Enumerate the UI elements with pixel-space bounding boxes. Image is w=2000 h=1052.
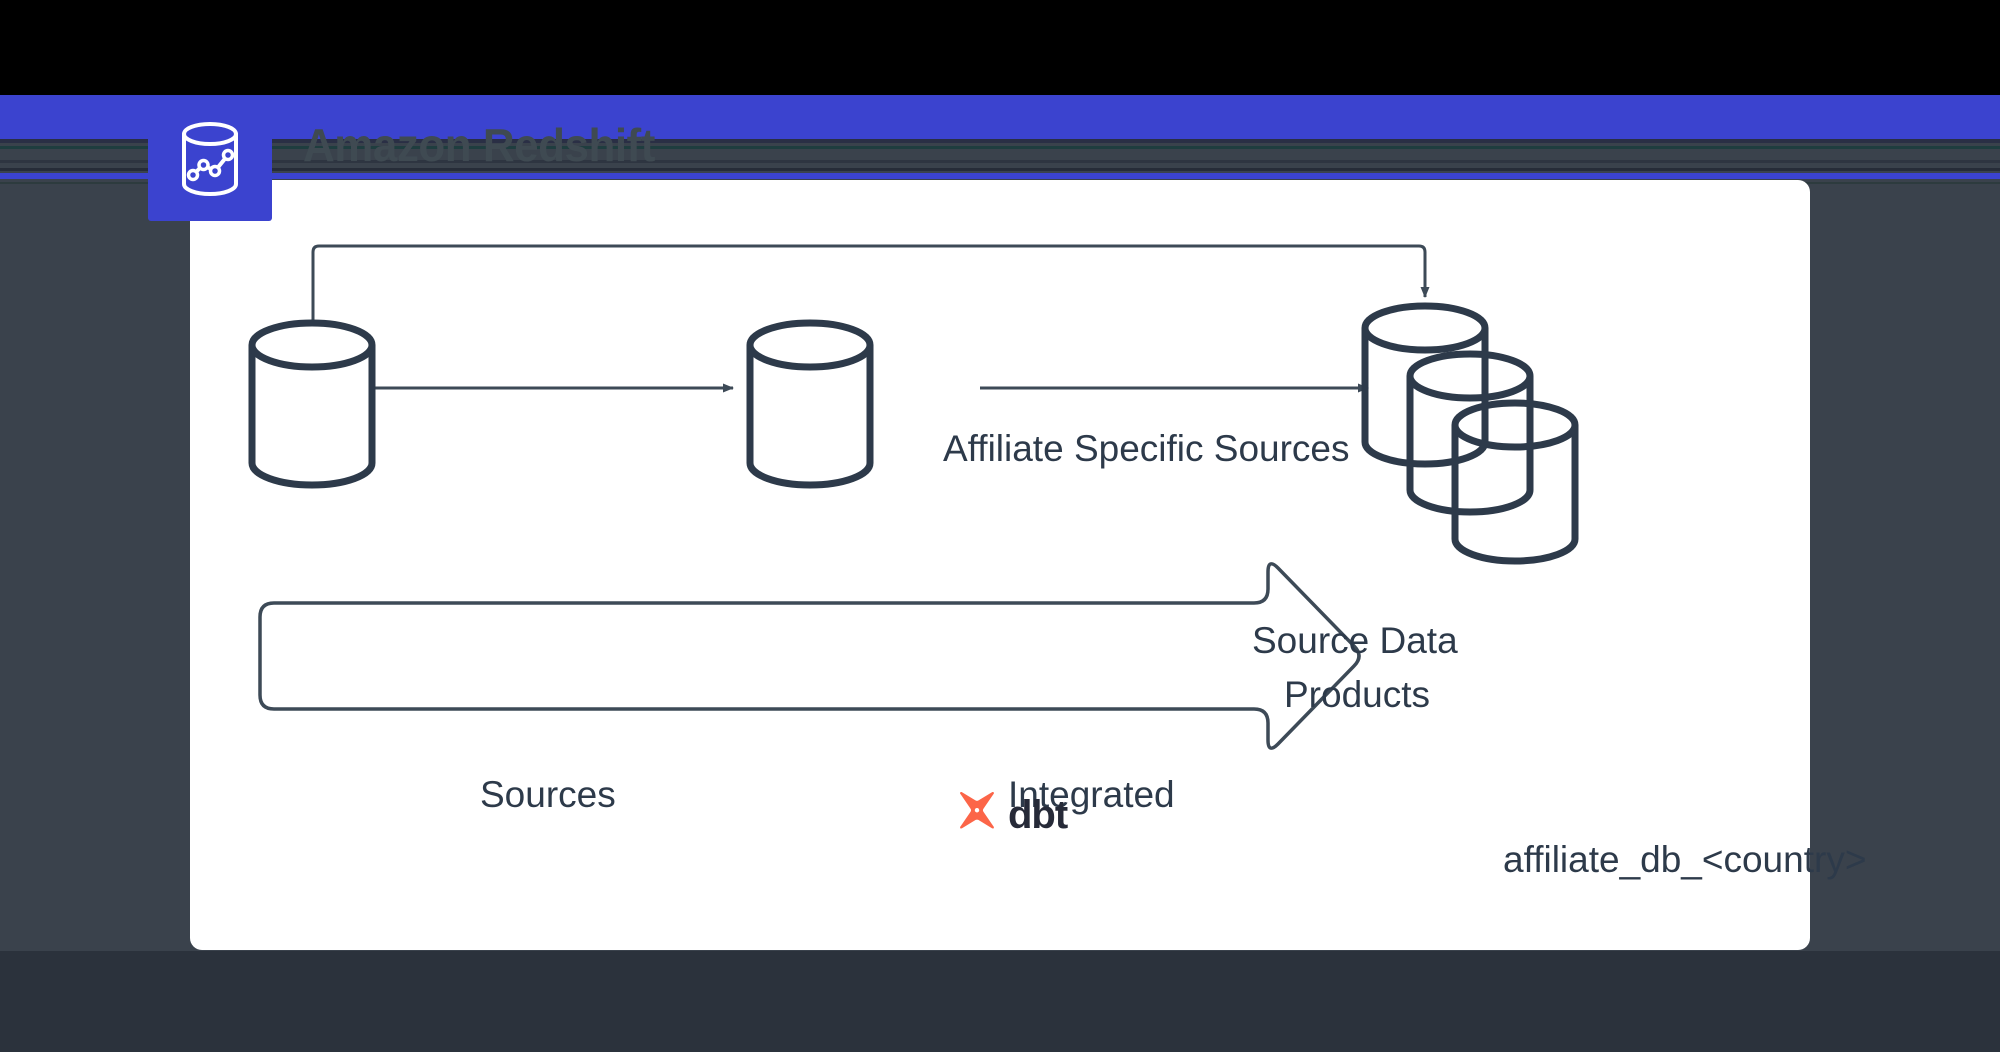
cylinder-front xyxy=(1455,403,1575,561)
redshift-icon-tile xyxy=(148,97,272,221)
node-label-affiliate-db: affiliate_db_<country> xyxy=(1503,839,1866,881)
dbt-x-icon xyxy=(955,790,999,839)
edge-label-source-data-products-line2: Products xyxy=(1284,674,1430,716)
redshift-database-chart-icon xyxy=(174,118,246,200)
brand-banner-strip xyxy=(0,95,2000,139)
node-integrated-cylinder xyxy=(750,323,870,485)
screenshot-stage: Affiliate Specific Sources Sources Integ… xyxy=(0,0,2000,1052)
edge-label-source-data-products-line1: Source Data xyxy=(1252,620,1458,662)
dbt-process-arrow xyxy=(260,564,1359,748)
node-sources-cylinder xyxy=(252,323,372,485)
page-title: Amazon Redshift xyxy=(303,119,655,174)
node-affiliate-db-stack xyxy=(1365,306,1575,561)
node-label-sources: Sources xyxy=(480,774,616,816)
background-slate-lower xyxy=(0,951,2000,1052)
edge-label-affiliate-specific-sources: Affiliate Specific Sources xyxy=(943,428,1350,470)
dbt-wordmark: dbt xyxy=(1008,795,1067,835)
dbt-logo: dbt xyxy=(955,790,1067,839)
